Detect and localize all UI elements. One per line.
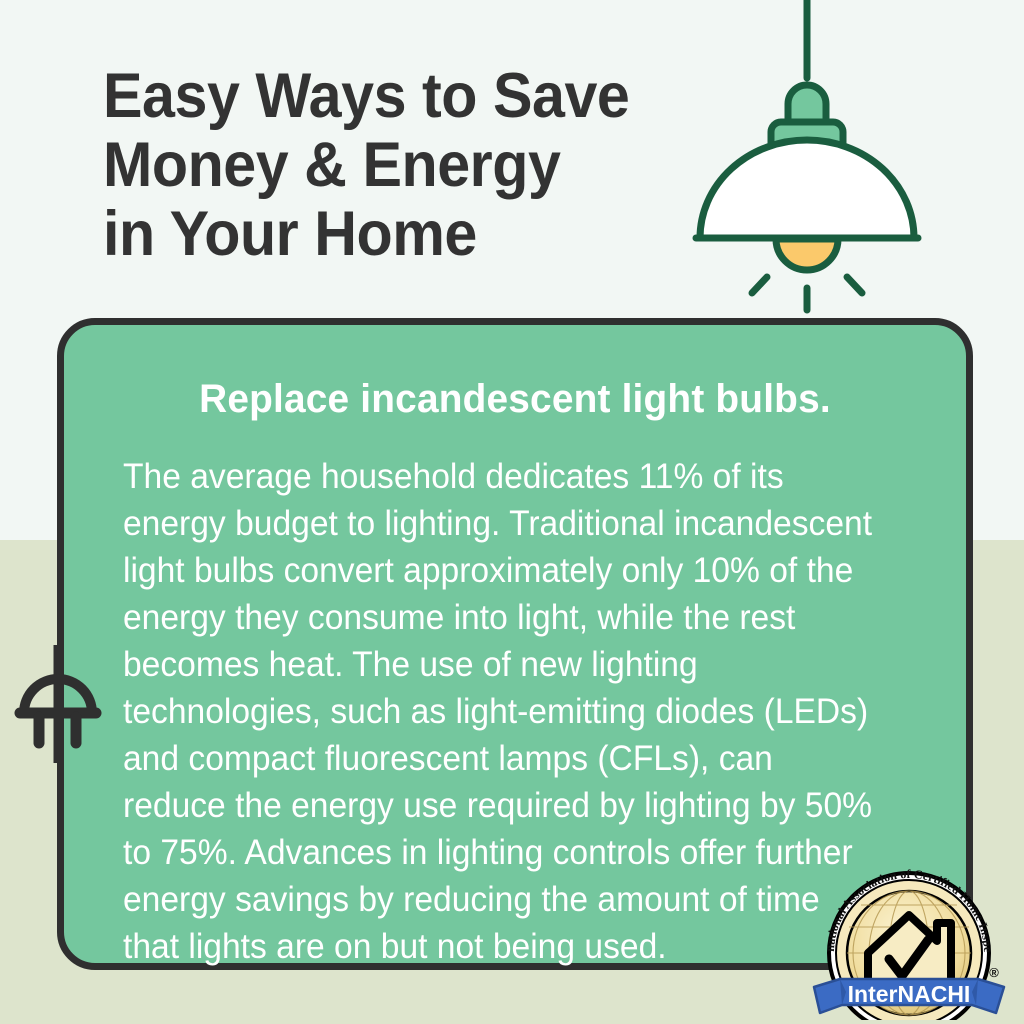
title-line-3: in Your Home: [103, 200, 629, 269]
internachi-seal: International Association of Certified H…: [806, 845, 1011, 1020]
seal-wordmark: InterNACHI: [848, 981, 971, 1007]
electric-plug-icon: [8, 645, 108, 765]
registered-mark-icon: ®: [989, 965, 999, 980]
poster-canvas: Easy Ways to Save Money & Energy in Your…: [0, 0, 1024, 1024]
tip-body-text: The average household dedicates 11% of i…: [123, 453, 881, 970]
title-line-2: Money & Energy: [103, 131, 629, 200]
pendant-lamp-icon: [676, 0, 966, 320]
poster-title: Easy Ways to Save Money & Energy in Your…: [103, 62, 663, 269]
title-line-1: Easy Ways to Save: [103, 62, 629, 131]
tip-heading: Replace incandescent light bulbs.: [78, 377, 953, 422]
